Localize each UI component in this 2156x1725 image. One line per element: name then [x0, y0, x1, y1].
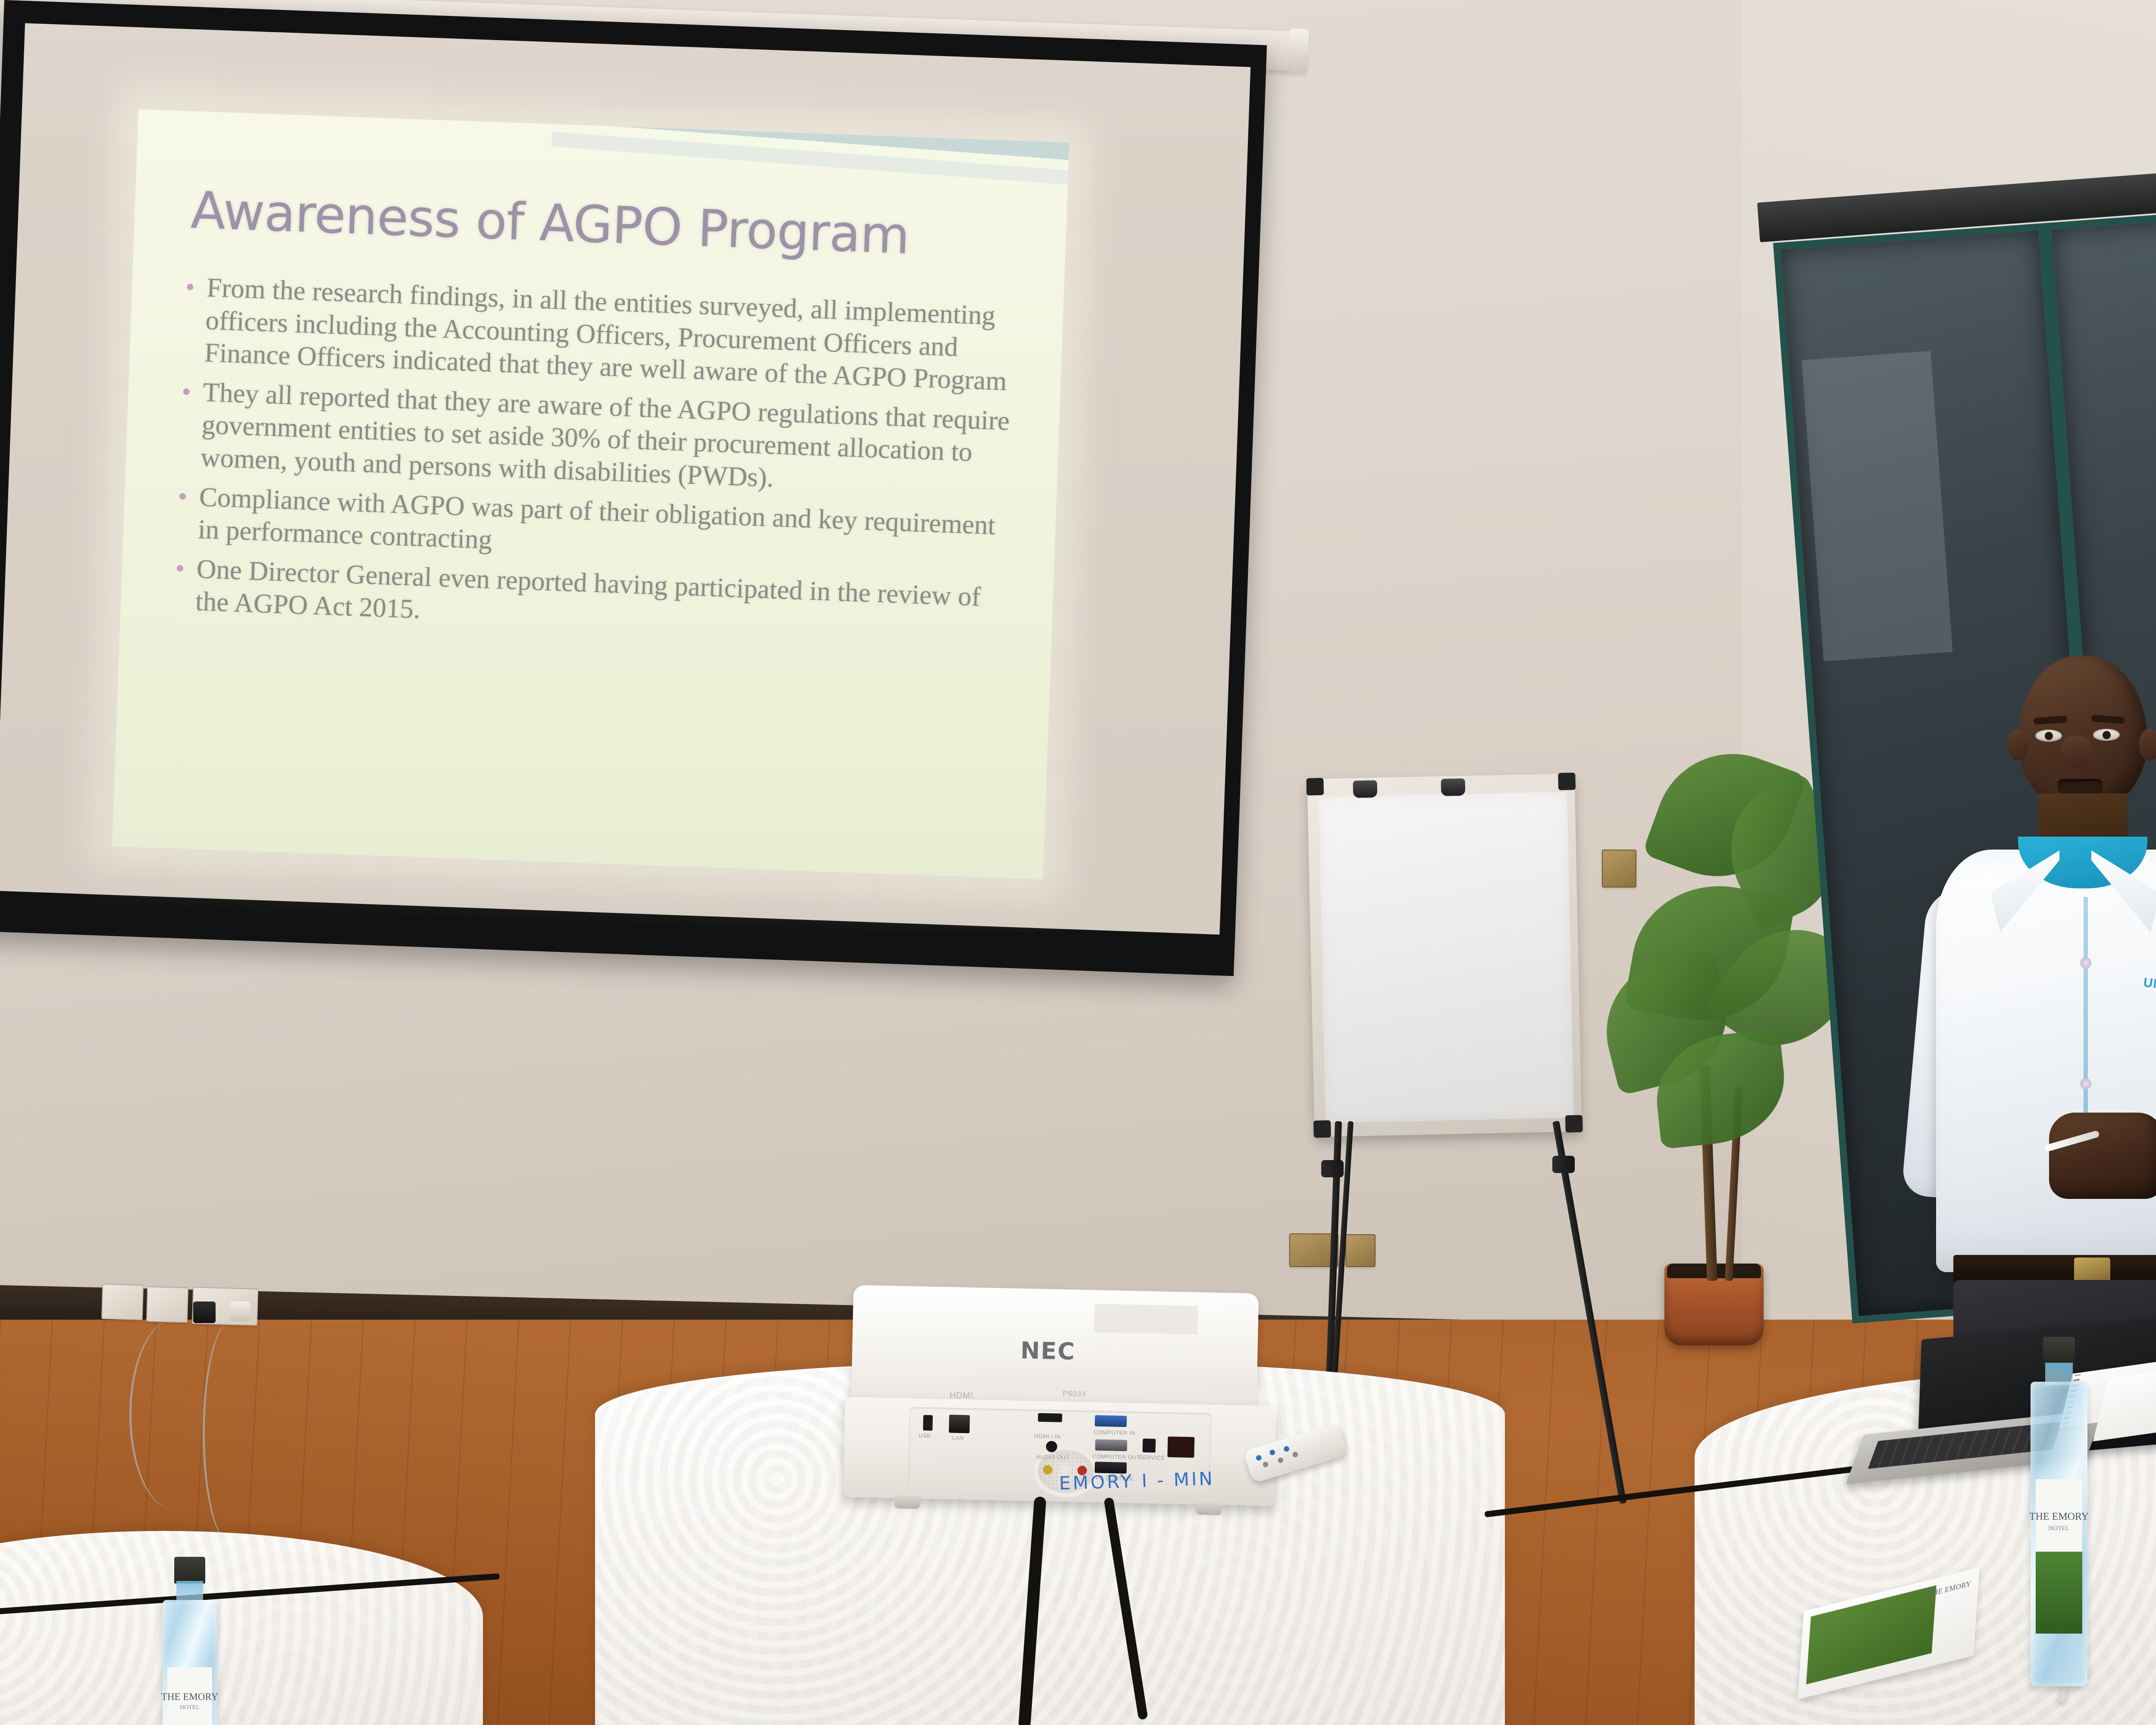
presenter-ear-right [2139, 729, 2156, 761]
flipchart-easel [1307, 774, 1582, 1137]
port-computer-out[interactable] [1095, 1439, 1128, 1451]
presenter-shirt [1936, 850, 2156, 1272]
flipchart-knob-left[interactable] [1321, 1160, 1344, 1177]
bottle-cap [2043, 1337, 2075, 1365]
bottle-label-green [2036, 1552, 2082, 1634]
water-bottle-emory-front-left: THE EMORY HOTEL [160, 1557, 220, 1725]
flipchart-corner-tr [1558, 773, 1576, 790]
flipchart-knob-right[interactable] [1552, 1156, 1575, 1173]
black-plug [193, 1302, 216, 1323]
port-label-lan: LAN [952, 1435, 964, 1442]
projector-spec-label [1094, 1304, 1198, 1334]
projector-foot-left [895, 1496, 920, 1509]
notepad-logo: THE EMORY [1927, 1579, 1973, 1600]
ir-receiver-window [1167, 1436, 1194, 1458]
flipchart-clip-right[interactable] [1441, 778, 1465, 796]
presenter-belt-buckle [2074, 1258, 2110, 1283]
port-hdmi[interactable] [1038, 1413, 1062, 1422]
bottle-cap [174, 1557, 205, 1584]
projector-model-label: P603X [1062, 1389, 1087, 1399]
port-lan[interactable] [949, 1414, 970, 1433]
slide-title: Awareness of AGPO Program [190, 184, 1011, 267]
projector-screen-surface: Awareness of AGPO Program From the resea… [0, 23, 1250, 935]
port-label-audio-out: AUDIO OUT [1036, 1454, 1069, 1461]
port-label-hdmi: HDMI / IN [1034, 1433, 1061, 1440]
presenter-clasped-hands [2049, 1113, 2156, 1199]
projector-screen-frame: Awareness of AGPO Program From the resea… [0, 0, 1267, 976]
flipchart-clip-left[interactable] [1353, 780, 1377, 798]
presenter-eye-right [2093, 729, 2120, 741]
conference-room-photo: Awareness of AGPO Program From the resea… [0, 0, 2156, 1725]
presenter-nose [2061, 736, 2092, 768]
port-service[interactable] [1143, 1439, 1156, 1453]
bottle-brand-text: THE EMORY [160, 1691, 220, 1703]
bottle-brand-subtext: HOTEL [160, 1704, 220, 1711]
presenter-shirt-button-mid [2080, 1078, 2091, 1089]
wall-switch-left-1[interactable] [101, 1284, 144, 1320]
projector-foot-right [1197, 1502, 1222, 1515]
wall-cable-b [203, 1320, 261, 1545]
wall-switch-left-2[interactable] [146, 1286, 188, 1323]
water-bottle-emory-center-right: THE EMORY HOTEL [2027, 1337, 2091, 1686]
wall-outlet-plant-side[interactable] [1602, 850, 1636, 888]
slide-body: From the research findings, in all the e… [166, 270, 1023, 654]
port-label-computer-out: COMPUTER OUT [1092, 1453, 1141, 1460]
bottle-brand-text: THE EMORY [2027, 1511, 2091, 1523]
flipchart-paper [1319, 792, 1574, 1123]
nec-projector[interactable]: NEC HDMI P603X USB LAN HDMI / IN AUDIO O… [843, 1285, 1288, 1518]
wall-outlet-flipchart-2[interactable] [1345, 1234, 1376, 1267]
roller-end-cap [1288, 28, 1309, 74]
port-label-service: SERVICE [1139, 1454, 1165, 1461]
port-computer-in[interactable] [1095, 1415, 1127, 1427]
projector-brand-label: NEC [1020, 1337, 1076, 1365]
flipchart-corner-br [1565, 1115, 1583, 1132]
port-label-usb: USB [918, 1432, 931, 1439]
port-label-computer-in: COMPUTER IN [1094, 1429, 1135, 1436]
door-reflection-left [1802, 351, 1952, 661]
presenter-eye-left [2035, 730, 2062, 742]
bottle-brand-subtext: HOTEL [2027, 1525, 2091, 1532]
presenter-shirt-button-top [2080, 957, 2091, 969]
presenter: UNIVERSITY OF NAIROBI [1889, 655, 2156, 1414]
flipchart-corner-tl [1306, 778, 1324, 796]
bottle-neck [176, 1581, 203, 1603]
white-plug [230, 1302, 250, 1321]
port-usb[interactable] [923, 1415, 933, 1430]
presenter-mouth [2058, 779, 2103, 793]
projector-rear-panel: USB LAN HDMI / IN AUDIO OUT COMPUTER IN … [843, 1397, 1276, 1506]
presenter-ear-left [2008, 729, 2028, 761]
presentation-slide: Awareness of AGPO Program From the resea… [112, 109, 1069, 879]
flipchart-corner-bl [1313, 1120, 1331, 1138]
